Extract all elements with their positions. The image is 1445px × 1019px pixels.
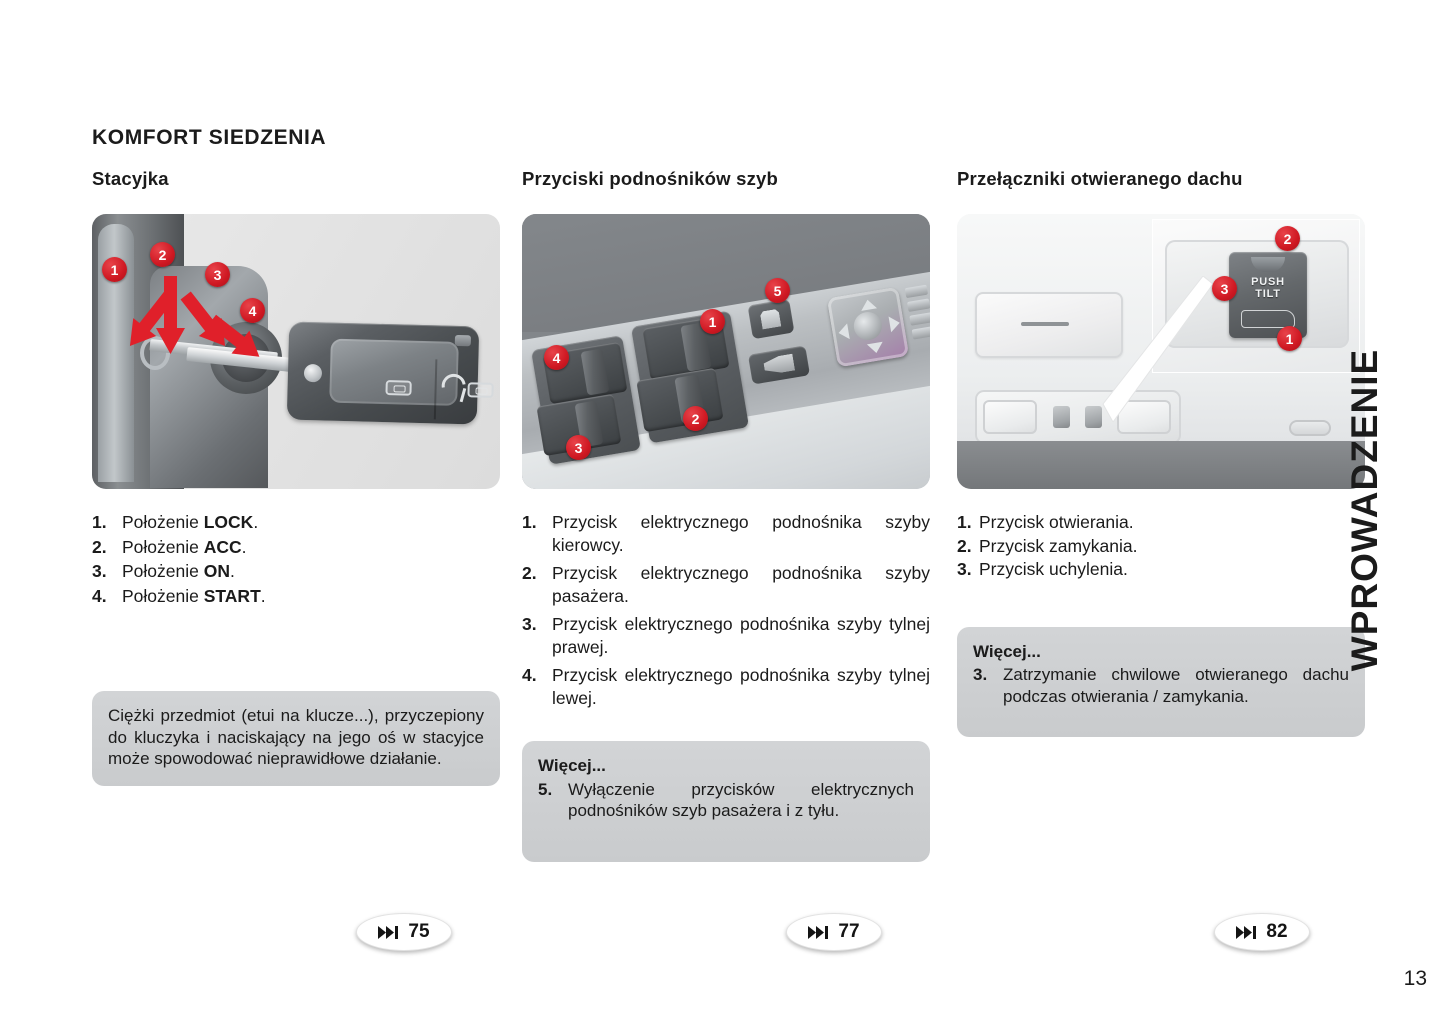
column-sunroof-switches: Przełączniki otwieranego dachu bbox=[957, 168, 1365, 737]
sunroof-push-tilt-switch: PUSH TILT bbox=[1229, 252, 1307, 338]
list-text: Przycisk elektrycznego podnośnika szyby … bbox=[552, 511, 930, 556]
list-text: Przycisk otwierania. bbox=[979, 511, 1365, 534]
window-lockout-icon bbox=[760, 309, 782, 330]
mirror-select-segment bbox=[909, 312, 930, 325]
figure-badge-3: 3 bbox=[1212, 276, 1237, 301]
windscreen-shadow bbox=[957, 441, 1365, 489]
page-ref-number: 75 bbox=[408, 921, 429, 943]
figure-badge-3: 3 bbox=[205, 262, 230, 287]
list-item: 1. Przycisk otwierania. bbox=[957, 511, 1365, 534]
list-number: 2. bbox=[92, 536, 122, 559]
mirror-select-segment bbox=[912, 326, 930, 339]
figure-badge-1: 1 bbox=[1277, 326, 1302, 351]
sunroof-switch-label: PUSH TILT bbox=[1229, 276, 1307, 300]
list-item: 3. Przycisk elektrycznego podnośnika szy… bbox=[522, 613, 930, 658]
more-note-number: 5. bbox=[538, 779, 568, 822]
mirror-fold-icon bbox=[763, 354, 795, 376]
more-note-row: 3. Zatrzymanie chwilowe otwieranego dach… bbox=[973, 664, 1349, 707]
fast-forward-icon bbox=[378, 926, 400, 939]
page-ref-82[interactable]: 82 bbox=[1214, 913, 1310, 951]
list-text: Przycisk elektrycznego podnośnika szyby … bbox=[552, 562, 930, 607]
list-item: 3. Położenie ON. bbox=[92, 560, 500, 583]
fast-forward-icon bbox=[1236, 926, 1258, 939]
mirror-select-segment bbox=[905, 285, 928, 298]
more-note-title: Więcej... bbox=[973, 641, 1349, 663]
fob-lock-icon bbox=[385, 380, 411, 396]
list-item: 2. Przycisk zamykania. bbox=[957, 535, 1365, 558]
ignition-positions-list: 1. Położenie LOCK. 2. Położenie ACC. 3. … bbox=[92, 511, 500, 607]
note-text: Ciężki przedmiot (etui na klucze...), pr… bbox=[108, 705, 484, 770]
list-text: Położenie ACC. bbox=[122, 536, 500, 559]
page-ref-77[interactable]: 77 bbox=[786, 913, 882, 951]
switch-label-tilt: TILT bbox=[1229, 288, 1307, 300]
figure-badge-4: 4 bbox=[240, 298, 265, 323]
side-tab-label: WPROWADZENIE bbox=[1344, 290, 1386, 730]
figure-badge-2: 2 bbox=[683, 406, 708, 431]
more-note-window-switches: Więcej... 5. Wyłączenie przycisków elekt… bbox=[522, 741, 930, 862]
sunroof-switch-list: 1. Przycisk otwierania. 2. Przycisk zamy… bbox=[957, 511, 1365, 581]
mirror-select-segment bbox=[907, 298, 930, 311]
list-item: 2. Położenie ACC. bbox=[92, 536, 500, 559]
page-number: 13 bbox=[1404, 967, 1427, 991]
page-ref-number: 82 bbox=[1266, 921, 1287, 943]
list-number: 2. bbox=[957, 535, 979, 558]
page-ref-75[interactable]: 75 bbox=[356, 913, 452, 951]
reading-lamp-left bbox=[983, 400, 1037, 434]
warning-note-ignition: Ciężki przedmiot (etui na klucze...), pr… bbox=[92, 691, 500, 786]
joystick-up-arrow-icon bbox=[860, 298, 877, 311]
fast-forward-icon bbox=[808, 926, 830, 939]
list-text: Przycisk uchylenia. bbox=[979, 558, 1365, 581]
page-ref-number: 77 bbox=[838, 921, 859, 943]
list-number: 4. bbox=[522, 664, 552, 709]
fob-button-pad bbox=[329, 339, 459, 406]
list-item: 2. Przycisk elektrycznego podnośnika szy… bbox=[522, 562, 930, 607]
figure-overhead-console-sunroof-switch: PUSH TILT 2 3 1 bbox=[957, 214, 1365, 489]
mirror-adjust-joystick bbox=[827, 287, 910, 368]
more-note-row: 5. Wyłączenie przycisków elektrycznych p… bbox=[538, 779, 914, 822]
figure-door-window-switch-panel: 1 2 3 4 5 bbox=[522, 214, 930, 489]
switch-label-push: PUSH bbox=[1229, 276, 1307, 288]
section-side-tab: WPROWADZENIE bbox=[1363, 0, 1437, 1019]
column-title-window-switches: Przyciski podnośników szyb bbox=[522, 168, 930, 214]
mirror-joystick-knob bbox=[852, 310, 884, 342]
list-text: Przycisk elektrycznego podnośnika szyby … bbox=[552, 613, 930, 658]
list-number: 2. bbox=[522, 562, 552, 607]
fob-blade-hinge bbox=[455, 335, 471, 346]
remote-key-fob bbox=[287, 322, 480, 425]
manual-page: KOMFORT SIEDZENIA Stacyjka bbox=[0, 0, 1445, 1019]
figure-badge-2: 2 bbox=[150, 242, 175, 267]
column-ignition: Stacyjka bbox=[92, 168, 500, 786]
joystick-right-arrow-icon bbox=[889, 315, 902, 332]
figure-badge-2: 2 bbox=[1275, 226, 1300, 251]
fob-pivot-screw bbox=[304, 364, 322, 382]
list-number: 1. bbox=[957, 511, 979, 534]
figure-badge-4: 4 bbox=[544, 345, 569, 370]
more-note-title: Więcej... bbox=[538, 755, 914, 777]
figure-badge-5: 5 bbox=[765, 278, 790, 303]
list-number: 3. bbox=[92, 560, 122, 583]
list-number: 1. bbox=[92, 511, 122, 534]
joystick-down-arrow-icon bbox=[867, 342, 884, 355]
grab-handle bbox=[1289, 420, 1331, 436]
list-item: 1. Przycisk elektrycznego podnośnika szy… bbox=[522, 511, 930, 556]
section-title: KOMFORT SIEDZENIA bbox=[92, 126, 326, 150]
figure-ignition-switch-with-key: 1 2 3 4 bbox=[92, 214, 500, 489]
fob-unlock-icon bbox=[467, 382, 493, 398]
list-item: 3. Przycisk uchylenia. bbox=[957, 558, 1365, 581]
list-text: Położenie ON. bbox=[122, 560, 500, 583]
list-text: Położenie START. bbox=[122, 585, 500, 608]
fob-pad-divider bbox=[434, 359, 438, 419]
figure-badge-3: 3 bbox=[566, 435, 591, 460]
joystick-left-arrow-icon bbox=[837, 323, 850, 340]
window-switch-list: 1. Przycisk elektrycznego podnośnika szy… bbox=[522, 511, 930, 709]
list-item: 4. Położenie START. bbox=[92, 585, 500, 608]
more-note-number: 3. bbox=[973, 664, 1003, 707]
list-number: 4. bbox=[92, 585, 122, 608]
window-lockout-button bbox=[747, 299, 794, 339]
list-item: 1. Położenie LOCK. bbox=[92, 511, 500, 534]
list-text: Przycisk zamykania. bbox=[979, 535, 1365, 558]
column-window-switches: Przyciski podnośników szyb bbox=[522, 168, 930, 862]
more-note-text: Zatrzymanie chwilowe otwieranego dachu p… bbox=[1003, 664, 1349, 707]
sun-visor-seam bbox=[1021, 322, 1069, 326]
list-number: 3. bbox=[957, 558, 979, 581]
column-title-sunroof-switches: Przełączniki otwieranego dachu bbox=[957, 168, 1365, 214]
list-text: Położenie LOCK. bbox=[122, 511, 500, 534]
zoom-callout-pointer bbox=[1097, 276, 1215, 427]
more-note-sunroof: Więcej... 3. Zatrzymanie chwilowe otwier… bbox=[957, 627, 1365, 738]
list-item: 4. Przycisk elektrycznego podnośnika szy… bbox=[522, 664, 930, 709]
more-note-text: Wyłączenie przycisków elektrycznych podn… bbox=[568, 779, 914, 822]
sunroof-switch-rocker bbox=[1251, 257, 1285, 272]
column-title-ignition: Stacyjka bbox=[92, 168, 500, 214]
figure-badge-1: 1 bbox=[102, 257, 127, 282]
list-number: 1. bbox=[522, 511, 552, 556]
list-number: 3. bbox=[522, 613, 552, 658]
console-button-left bbox=[1053, 406, 1070, 428]
list-text: Przycisk elektrycznego podnośnika szyby … bbox=[552, 664, 930, 709]
fob-boot-arc-icon bbox=[437, 369, 471, 403]
figure-badge-1: 1 bbox=[700, 309, 725, 334]
